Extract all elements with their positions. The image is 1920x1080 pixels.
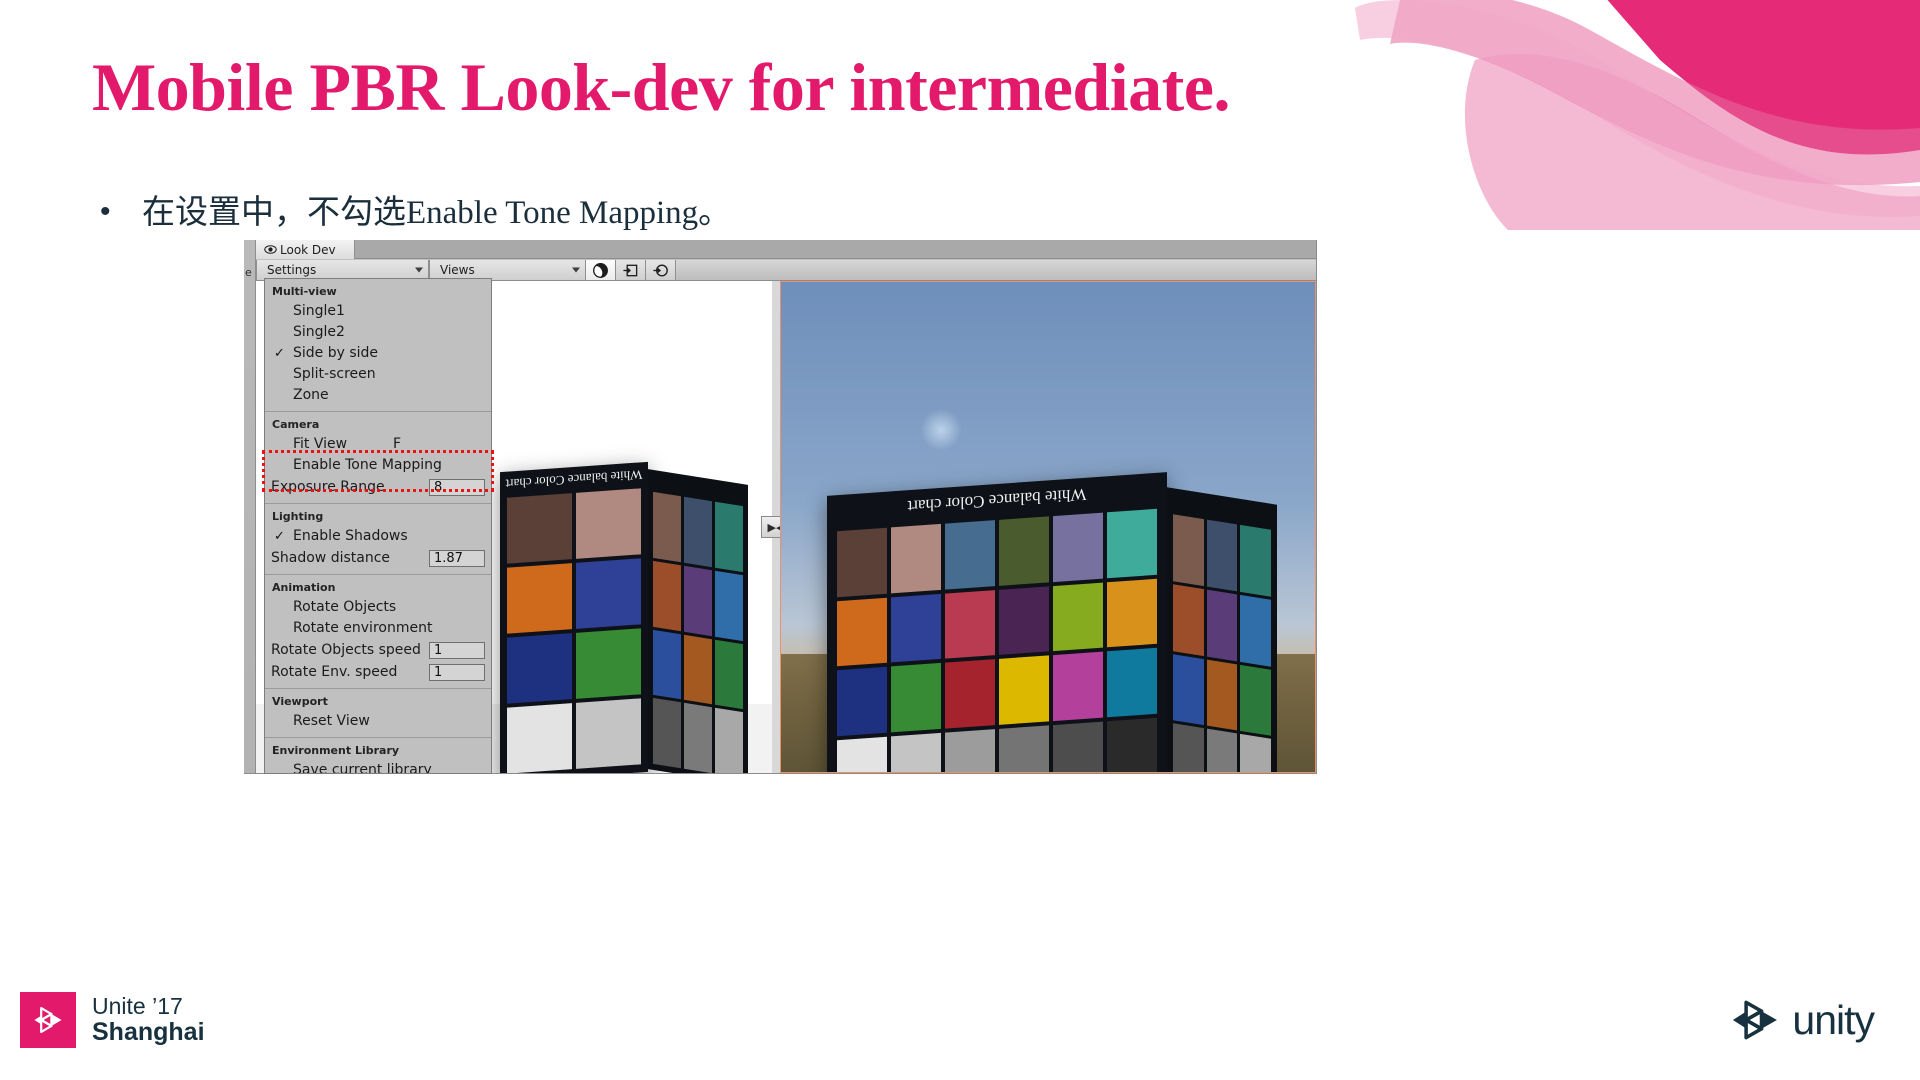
color-swatch [837,667,887,736]
menu-field-input[interactable]: 1 [429,664,485,681]
menu-item-label: Enable Shadows [293,528,408,544]
color-swatch [999,586,1049,655]
menu-section-header: Lighting [265,508,491,526]
tab-look-dev[interactable]: Look Dev [256,240,355,259]
color-chart-left-side [648,469,748,773]
color-swatch [1053,652,1103,721]
menu-item-single2[interactable]: Single2 [265,322,491,343]
color-swatch [1240,734,1271,773]
menu-section-header: Camera [265,416,491,434]
menu-item-label: Side by side [293,345,378,361]
color-chart-right-side [1167,487,1277,773]
color-swatch [1173,654,1204,726]
menu-item-enable-shadows[interactable]: ✓Enable Shadows [265,526,491,547]
menu-item-shortcut: F [393,436,401,453]
color-swatch [1053,582,1103,651]
check-icon: ✓ [274,345,285,362]
page-title: Mobile PBR Look-dev for intermediate. [92,52,1230,123]
menu-field-input[interactable]: 8 [429,479,485,496]
menu-field-input[interactable]: 1.87 [429,550,485,567]
color-swatch [1173,514,1204,586]
color-swatch [945,520,995,589]
menu-section: Multi-viewSingle1Single2✓Side by sideSpl… [265,279,491,412]
color-swatch [507,493,572,564]
color-swatch [576,558,641,629]
color-swatch [684,497,712,567]
adjacent-tab-letter: e [245,266,252,279]
color-chart-right-swatches [837,509,1157,773]
color-swatch [945,659,995,728]
bullet-label: 在设置中，不勾选Enable Tone Mapping。 [142,193,731,234]
sun-glow [920,409,962,451]
menu-field-rotate-env-speed[interactable]: Rotate Env. speed1 [265,661,491,683]
menu-item-save-current-library[interactable]: Save current library [265,760,491,774]
color-swatch [1107,717,1157,773]
menu-section-header: Multi-view [265,283,491,301]
menu-item-label: Single2 [293,324,345,340]
color-swatch [1107,509,1157,578]
color-swatch [715,502,743,572]
chevron-down-icon [572,268,580,273]
color-swatch [891,663,941,732]
menu-field-label: Rotate Objects speed [271,642,421,658]
menu-field-shadow-distance[interactable]: Shadow distance1.87 [265,547,491,569]
ribbon-shapes [1260,0,1920,230]
menu-field-rotate-objects-speed[interactable]: Rotate Objects speed1 [265,639,491,661]
menu-item-rotate-objects[interactable]: Rotate Objects [265,597,491,618]
viewport-splitter[interactable]: ▶◀ [772,281,780,773]
menu-item-label: Enable Tone Mapping [293,457,442,473]
menu-section: Environment LibrarySave current library [265,738,491,774]
color-swatch [891,524,941,593]
color-swatch [653,492,681,562]
shading-sphere-icon-button[interactable] [586,260,616,280]
color-swatch [1240,595,1271,667]
menu-item-rotate-environment[interactable]: Rotate environment [265,618,491,639]
color-swatch [891,732,941,773]
color-swatch [715,570,743,640]
menu-section-header: Viewport [265,693,491,711]
menu-item-label: Zone [293,387,329,403]
adjacent-docked-window-strip: e [244,240,256,773]
color-swatch [653,561,681,631]
color-swatch [1173,584,1204,656]
color-swatch [1207,729,1238,773]
color-swatch [653,629,681,699]
color-swatch [1053,721,1103,773]
menu-item-fit-view[interactable]: Fit ViewF [265,434,491,455]
bullet-list-item: • 在设置中，不勾选Enable Tone Mapping。 [100,193,731,234]
color-swatch [507,633,572,704]
color-swatch [1107,648,1157,717]
unity-logo-icon [1730,998,1782,1042]
unite-text: Unite ’17 Shanghai [92,994,205,1046]
color-swatch [684,703,712,773]
color-swatch [715,708,743,773]
color-swatch [507,703,572,773]
menu-section-header: Environment Library [265,742,491,760]
color-swatch [1240,525,1271,597]
menu-item-label: Fit View [293,436,347,452]
color-swatch [1173,723,1204,773]
eye-icon [264,243,277,256]
unity-cube-icon [31,1003,65,1037]
color-swatch [1240,664,1271,736]
menu-item-side-by-side[interactable]: ✓Side by side [265,343,491,364]
unity-wordmark: unity [1792,1000,1874,1041]
color-swatch [945,590,995,659]
color-swatch [507,563,572,634]
color-chart-right: White balance Color chart [827,472,1167,773]
color-chart-right-side-swatches [1173,514,1271,773]
color-swatch [891,593,941,662]
unity-cube-badge [20,992,76,1048]
shading-sphere-icon [592,262,609,279]
settings-dropdown-label: Settings [267,263,316,277]
load-into-circle-icon [652,262,669,279]
settings-dropdown-menu[interactable]: Multi-viewSingle1Single2✓Side by sideSpl… [264,278,492,774]
menu-item-single1[interactable]: Single1 [265,301,491,322]
unite-line2: Shanghai [92,1019,205,1046]
viewport-right[interactable]: White balance Color chart [780,281,1316,773]
color-swatch [684,634,712,704]
views-dropdown-label: Views [440,263,475,277]
color-swatch [999,725,1049,773]
unity-logo: unity [1730,998,1874,1042]
color-chart-left-caption: White balance Color chart [500,466,648,492]
menu-field-input[interactable]: 1 [429,642,485,659]
color-swatch [837,528,887,597]
color-swatch [945,729,995,773]
menu-item-label: Reset View [293,713,370,729]
menu-field-exposure-range[interactable]: Exposure Range8 [265,476,491,498]
color-swatch [1053,513,1103,582]
color-swatch [576,698,641,769]
color-swatch [1107,578,1157,647]
color-swatch [576,628,641,699]
chevron-down-icon [415,268,423,273]
color-swatch [715,639,743,709]
color-swatch [999,516,1049,585]
color-swatch [837,736,887,773]
menu-section: Lighting✓Enable ShadowsShadow distance1.… [265,504,491,575]
bullet-marker: • [100,193,142,227]
load-into-box-icon [622,262,639,279]
editor-tabbar: Look Dev [256,240,1316,259]
menu-item-enable-tone-mapping[interactable]: Enable Tone Mapping [265,455,491,476]
menu-item-label: Rotate Objects [293,599,396,615]
unite-line1: Unite ’17 [92,994,205,1019]
menu-item-reset-view[interactable]: Reset View [265,711,491,732]
decorative-ribbon [1260,0,1920,230]
color-chart-left-side-swatches [653,492,743,773]
color-swatch [653,698,681,768]
menu-item-label: Single1 [293,303,345,319]
settings-dropdown[interactable]: Settings [256,260,429,280]
color-swatch [1207,520,1238,592]
views-dropdown[interactable]: Views [429,260,586,280]
load-into-circle-icon-button[interactable] [646,260,676,280]
menu-section-header: Animation [265,579,491,597]
menu-item-split-screen[interactable]: Split-screen [265,364,491,385]
tab-look-dev-label: Look Dev [280,243,336,257]
menu-item-label: Rotate environment [293,620,432,636]
check-icon: ✓ [274,528,285,545]
color-swatch [999,655,1049,724]
color-swatch [684,566,712,636]
menu-field-label: Rotate Env. speed [271,664,397,680]
unite-branding: Unite ’17 Shanghai [20,992,205,1048]
color-swatch [576,488,641,559]
menu-field-label: Exposure Range [271,479,385,495]
menu-item-zone[interactable]: Zone [265,385,491,406]
menu-item-label: Split-screen [293,366,376,382]
color-chart-left: White balance Color chart [500,462,648,773]
color-chart-left-swatches [507,488,641,773]
color-swatch [1207,659,1238,731]
menu-section: CameraFit ViewFEnable Tone MappingExposu… [265,412,491,504]
menu-section: AnimationRotate ObjectsRotate environmen… [265,575,491,689]
load-into-box-icon-button[interactable] [616,260,646,280]
menu-section: ViewportReset View [265,689,491,738]
color-swatch [837,597,887,666]
menu-field-label: Shadow distance [271,550,390,566]
menu-item-label: Save current library [293,762,432,774]
color-swatch [1207,589,1238,661]
